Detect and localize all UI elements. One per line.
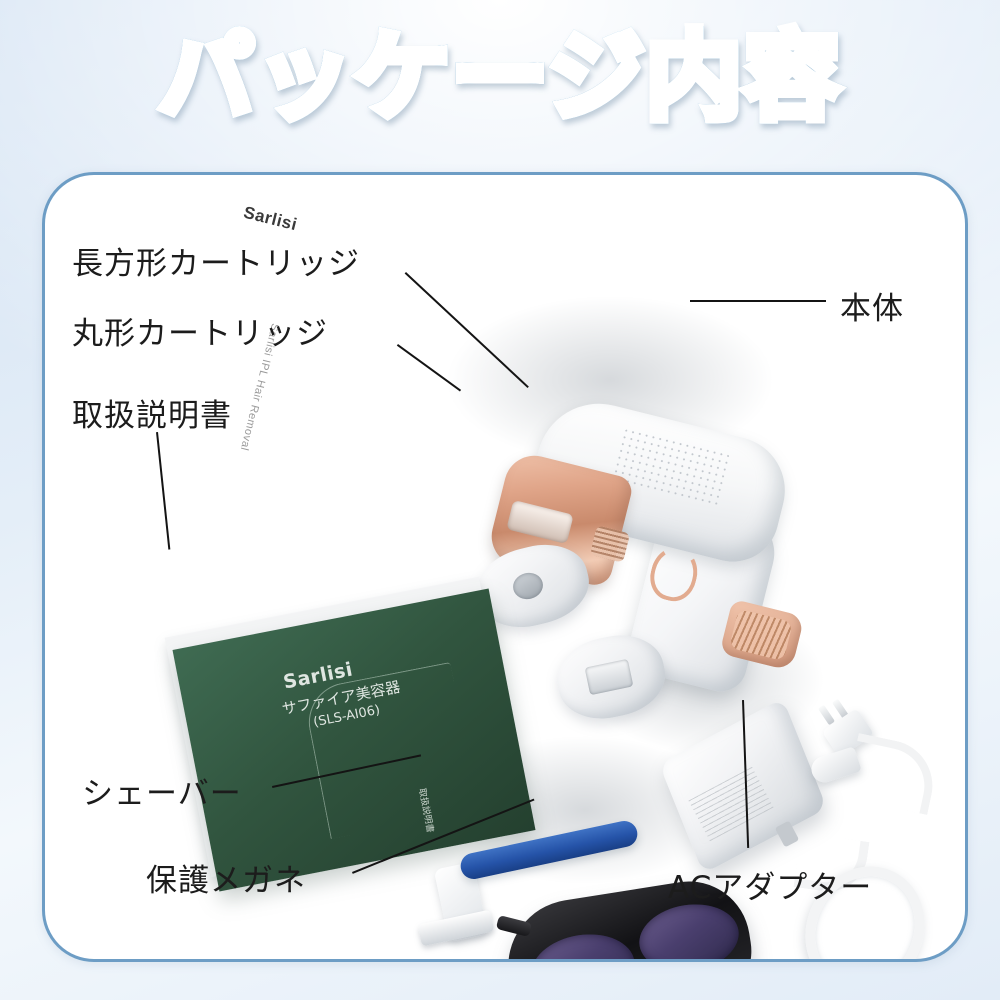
label-goggles: 保護メガネ <box>146 855 306 900</box>
plug-prong-one <box>818 705 835 725</box>
power-cord-wire <box>845 733 941 815</box>
infographic-canvas: パッケージ内容 Sarlisi Sarlisi IPL Hair Removal <box>0 0 1000 1000</box>
device-brand-text: Sarlisi <box>241 203 299 236</box>
label-shaver: シェーバー <box>82 768 242 813</box>
label-round-cartridge: 丸形カートリッジ <box>72 308 328 353</box>
label-ac-adapter: ACアダプター <box>668 862 872 907</box>
contents-card: Sarlisi Sarlisi IPL Hair Removal Sarlisi… <box>42 172 968 962</box>
page-title: パッケージ内容 <box>0 26 1000 130</box>
product-photo: Sarlisi Sarlisi IPL Hair Removal Sarlisi… <box>45 175 965 959</box>
label-rect-cartridge: 長方形カートリッジ <box>72 238 360 283</box>
label-manual: 取扱説明書 <box>72 390 232 435</box>
label-main-body: 本体 <box>840 283 904 328</box>
leader-line-main-body <box>690 300 826 302</box>
